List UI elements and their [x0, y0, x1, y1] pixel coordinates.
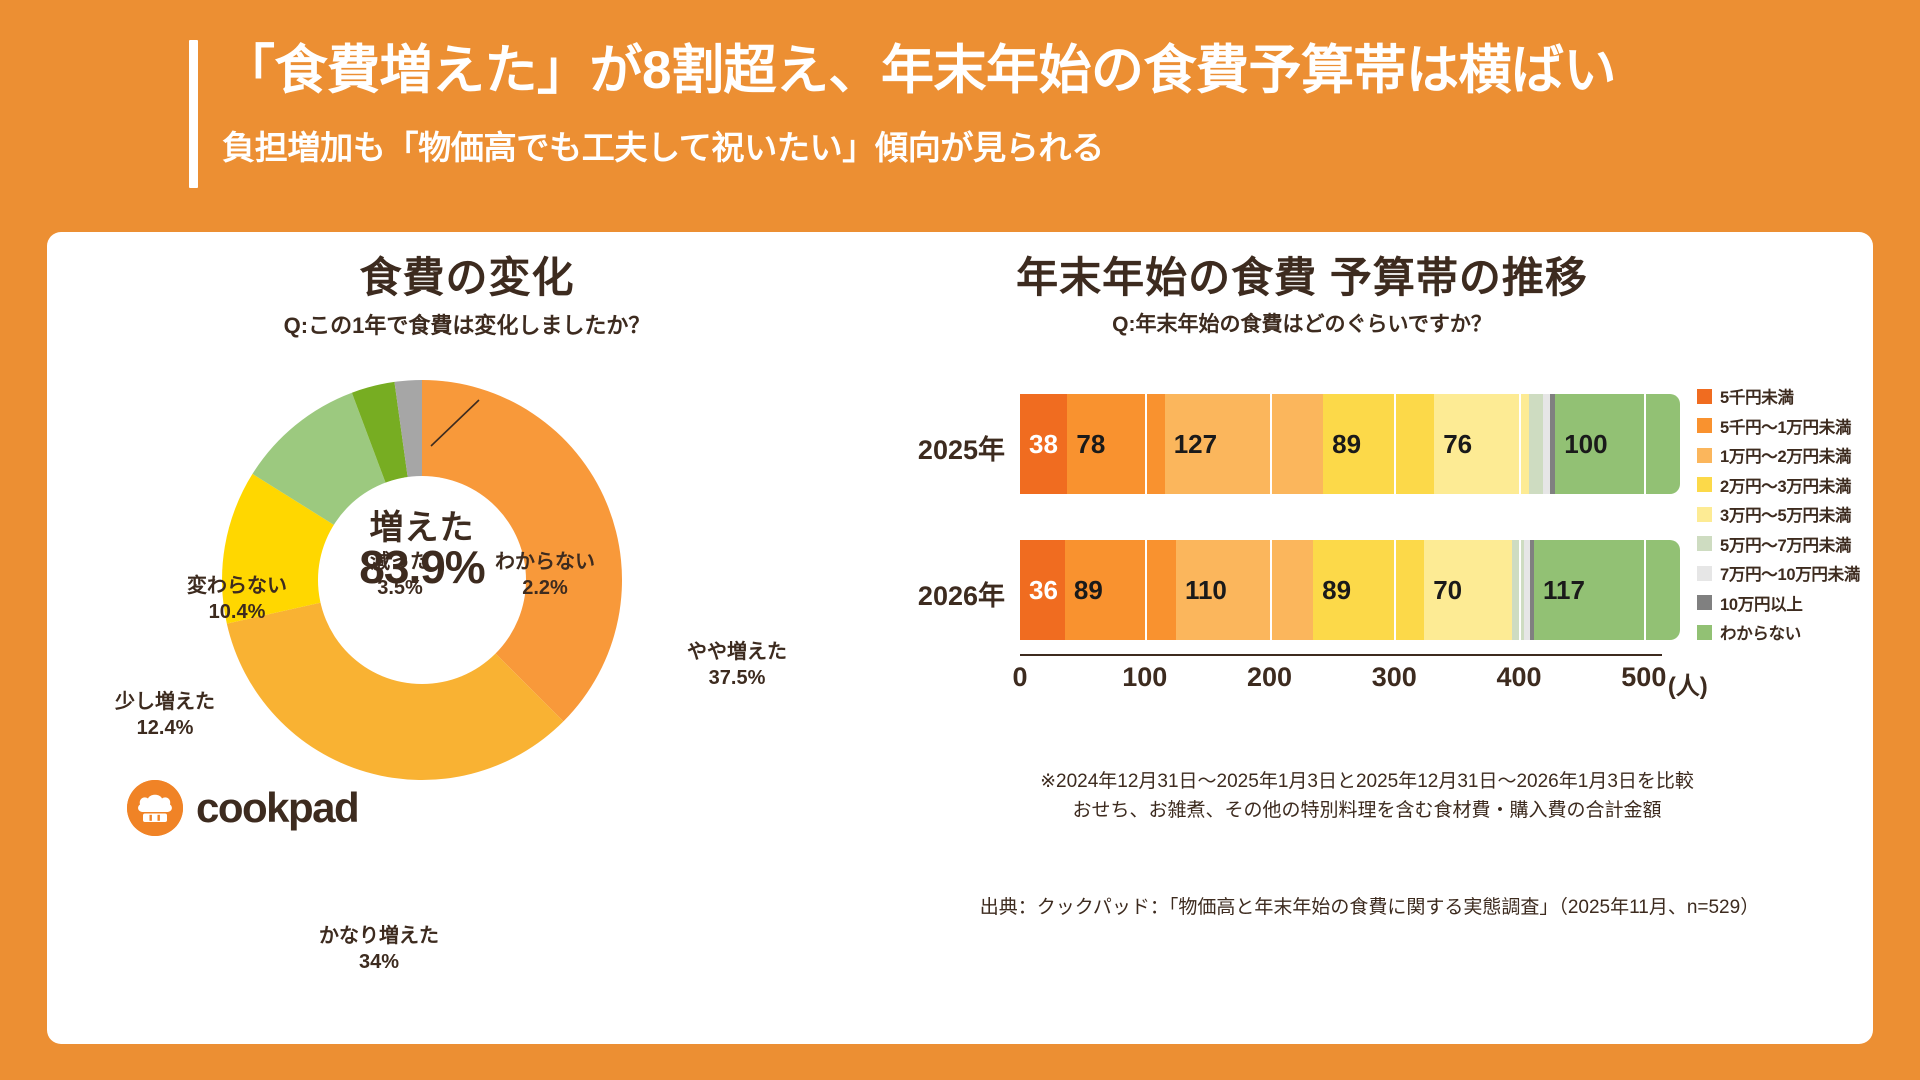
bar-segment-value: 127 [1165, 429, 1217, 460]
gridline-200 [1270, 540, 1272, 640]
bar-chart-question: Q:年末年始の食費はどのぐらいですか？ [887, 308, 1717, 338]
legend-swatch-icon [1697, 448, 1712, 463]
legend-label: 5千円未満 [1720, 384, 1794, 408]
donut-label-text: 少し増えた [115, 691, 215, 713]
header-band: 「食費増えた」が8割超え、年末年始の食費予算帯は横ばい 負担増加も「物価高でも工… [0, 0, 1920, 232]
x-tick-200: 200 [1247, 662, 1292, 693]
legend-item-5千円〜1万円未満: 5千円〜1万円未満 [1697, 414, 1897, 438]
legend-swatch-icon [1697, 507, 1712, 522]
cookpad-wordmark: cookpad [196, 784, 358, 832]
bar-segment-5千円〜1万円未満: 89 [1065, 540, 1176, 640]
donut-label-wakaranai: わからない 2.2% [465, 550, 625, 601]
gridline-500 [1644, 540, 1646, 640]
chef-hat-glyph [127, 780, 183, 836]
legend-item-3万円〜5万円未満: 3万円〜5万円未満 [1697, 502, 1897, 526]
donut-label-sukoshi-fueta: 少し増えた 12.4% [75, 690, 255, 741]
gridline-400 [1519, 394, 1521, 494]
bar-segment-5千円未満: 38 [1020, 394, 1067, 494]
footnote-line-2: おせち、お雑煮、その他の特別料理を含む食材費・購入費の合計金額 [887, 797, 1847, 826]
bar-segment-value: 70 [1424, 575, 1462, 606]
x-tick-400: 400 [1497, 662, 1542, 693]
gridline-200 [1270, 394, 1272, 494]
chef-hat-icon [127, 780, 183, 836]
gridline-400 [1519, 540, 1521, 640]
bar-segment-value: 36 [1020, 575, 1058, 606]
donut-label-hetta: 減った 3.5% [335, 550, 465, 601]
bar-chart-panel: 年末年始の食費 予算帯の推移 Q:年末年始の食費はどのぐらいですか？ 2025年… [887, 232, 1873, 1044]
leader-line-wakaranai [427, 400, 517, 460]
donut-label-yaya-fueta: やや増えた 37.5% [687, 640, 787, 691]
donut-label-kanari-fueta: かなり増えた 34% [279, 924, 479, 975]
footnote-line-1: ※2024年12月31日〜2025年1月3日と2025年12月31日〜2026年… [887, 768, 1847, 797]
legend-swatch-icon [1697, 566, 1712, 581]
legend-swatch-icon [1697, 477, 1712, 492]
donut-label-text: やや増えた [687, 641, 787, 663]
donut-label-text: わからない [495, 551, 595, 573]
bar-segment-5千円〜1万円未満: 78 [1067, 394, 1164, 494]
bar-segment-1万円〜2万円未満: 127 [1165, 394, 1323, 494]
infographic-root: 「食費増えた」が8割超え、年末年始の食費予算帯は横ばい 負担増加も「物価高でも工… [0, 0, 1920, 1080]
donut-label-value: 37.5% [687, 666, 787, 692]
page-subtitle: 負担増加も「物価高でも工夫して祝いたい」傾向が見られる [222, 128, 1882, 168]
bar-category-label-2025年: 2025年 [895, 428, 1005, 467]
bar-segment-7万円〜10万円未満 [1543, 394, 1550, 494]
chart-footnote: ※2024年12月31日〜2025年1月3日と2025年12月31日〜2026年… [887, 768, 1847, 825]
x-axis-unit: (人) [1668, 666, 1708, 701]
gridline-300 [1394, 394, 1396, 494]
legend-item-10万円以上: 10万円以上 [1697, 591, 1897, 615]
header-accent-rule [189, 40, 198, 188]
bar-row: 38781278976100 [1020, 394, 1680, 494]
legend-item-5万円〜7万円未満: 5万円〜7万円未満 [1697, 532, 1897, 556]
cookpad-logo: cookpad [127, 780, 358, 836]
bar-segment-5万円〜7万円未満 [1512, 540, 1524, 640]
bar-segment-わからない: 100 [1555, 394, 1680, 494]
gridline-100 [1145, 394, 1147, 494]
donut-label-value: 10.4% [147, 600, 327, 626]
legend-label: 10万円以上 [1720, 591, 1803, 615]
donut-chart-question: Q:この1年で食費は変化しましたか？ [47, 308, 887, 340]
chart-source: 出典：クックパッド：「物価高と年末年始の食費に関する実態調査」（2025年11月… [887, 892, 1852, 919]
bar-segment-3万円〜5万円未満: 70 [1424, 540, 1511, 640]
legend-item-わからない: わからない [1697, 620, 1897, 644]
donut-label-value: 2.2% [465, 576, 625, 602]
x-tick-300: 300 [1372, 662, 1417, 693]
donut-label-value: 34% [279, 950, 479, 976]
x-tick-500: 500 [1621, 662, 1666, 693]
bar-segment-3万円〜5万円未満: 76 [1434, 394, 1529, 494]
donut-label-text: かなり増えた [319, 925, 439, 947]
legend-item-1万円〜2万円未満: 1万円〜2万円未満 [1697, 443, 1897, 467]
legend-item-5千円未満: 5千円未満 [1697, 384, 1897, 408]
legend-label: 7万円〜10万円未満 [1720, 561, 1860, 585]
legend-swatch-icon [1697, 625, 1712, 640]
bar-segment-value: 110 [1176, 575, 1227, 606]
donut-label-value: 3.5% [335, 576, 465, 602]
bar-segment-value: 100 [1555, 429, 1607, 460]
legend-label: わからない [1720, 620, 1801, 644]
legend-label: 3万円〜5万円未満 [1720, 502, 1851, 526]
bar-segment-value: 78 [1067, 429, 1105, 460]
donut-label-text: 減った [370, 551, 430, 573]
legend-item-7万円〜10万円未満: 7万円〜10万円未満 [1697, 561, 1897, 585]
x-tick-0: 0 [1012, 662, 1027, 693]
bar-chart-legend: 5千円未満5千円〜1万円未満1万円〜2万円未満2万円〜3万円未満3万円〜5万円未… [1697, 384, 1897, 650]
legend-item-2万円〜3万円未満: 2万円〜3万円未満 [1697, 473, 1897, 497]
gridline-100 [1145, 540, 1147, 640]
bar-segment-5万円〜7万円未満 [1529, 394, 1543, 494]
bar-segment-2万円〜3万円未満: 89 [1313, 540, 1424, 640]
x-tick-100: 100 [1122, 662, 1167, 693]
donut-label-value: 12.4% [75, 716, 255, 742]
donut-chart-title: 食費の変化 [47, 244, 887, 305]
bar-segment-value: 89 [1065, 575, 1103, 606]
bar-segment-value: 89 [1323, 429, 1361, 460]
legend-label: 5千円〜1万円未満 [1720, 414, 1851, 438]
gridline-500 [1644, 394, 1646, 494]
bar-row: 36891108970117 [1020, 540, 1680, 640]
legend-label: 1万円〜2万円未満 [1720, 443, 1851, 467]
bar-segment-value: 38 [1020, 429, 1058, 460]
page-title: 「食費増えた」が8割超え、年末年始の食費予算帯は横ばい [222, 41, 1882, 102]
bar-segment-value: 76 [1434, 429, 1472, 460]
bar-segment-わからない: 117 [1534, 540, 1680, 640]
bar-segment-value: 117 [1534, 575, 1585, 606]
bar-category-label-2026年: 2026年 [895, 574, 1005, 613]
gridline-300 [1394, 540, 1396, 640]
x-axis-line [1020, 654, 1662, 656]
bar-segment-2万円〜3万円未満: 89 [1323, 394, 1434, 494]
legend-swatch-icon [1697, 389, 1712, 404]
legend-swatch-icon [1697, 418, 1712, 433]
bar-segment-5千円未満: 36 [1020, 540, 1065, 640]
legend-swatch-icon [1697, 595, 1712, 610]
bar-chart-title: 年末年始の食費 予算帯の推移 [887, 244, 1717, 305]
legend-label: 2万円〜3万円未満 [1720, 473, 1851, 497]
content-card: 食費の変化 Q:この1年で食費は変化しましたか？ 増えた 83.9% やや増えた… [47, 232, 1873, 1044]
legend-swatch-icon [1697, 536, 1712, 551]
donut-chart-panel: 食費の変化 Q:この1年で食費は変化しましたか？ 増えた 83.9% やや増えた… [47, 232, 887, 1044]
bar-segment-value: 89 [1313, 575, 1351, 606]
donut-label-text: 変わらない [187, 575, 287, 597]
bar-segment-1万円〜2万円未満: 110 [1176, 540, 1313, 640]
legend-label: 5万円〜7万円未満 [1720, 532, 1851, 556]
donut-label-kawaranai: 変わらない 10.4% [147, 574, 327, 625]
